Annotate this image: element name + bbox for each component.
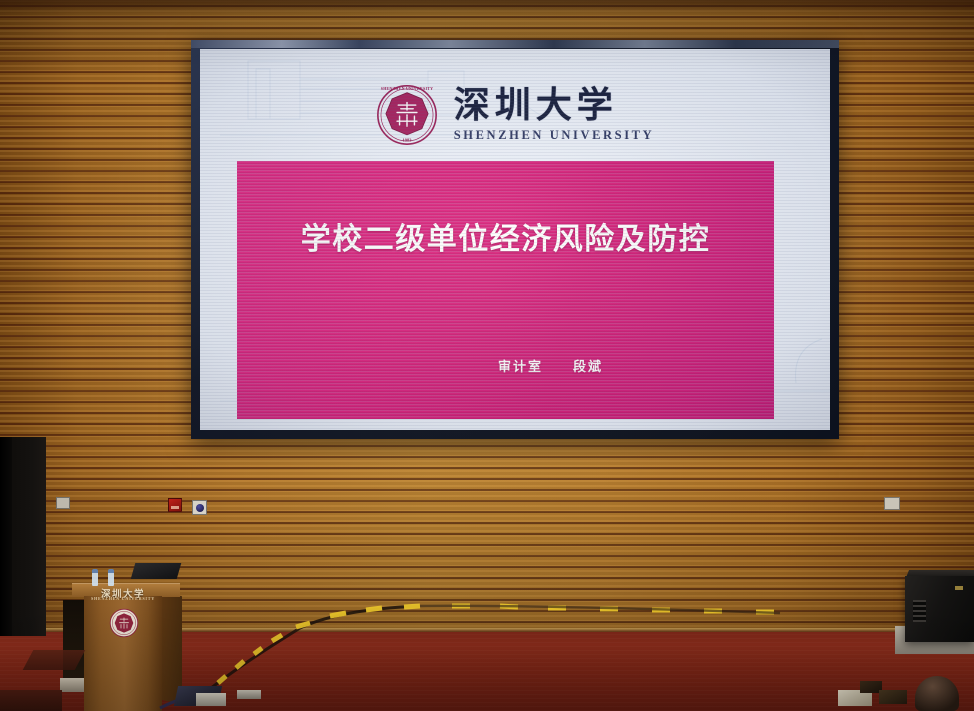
floor-mat-edge (0, 690, 62, 711)
university-logo-lockup: 1983 SHENZHEN UNIVERSITY 深圳大学 SHENZHEN U… (200, 71, 830, 159)
slide-presenter-credit: 审计室 段斌 (237, 356, 774, 375)
screen-bezel-highlight (191, 40, 839, 48)
water-bottle[interactable] (92, 569, 98, 586)
svg-text:1983: 1983 (402, 138, 412, 143)
speaker-brand-badge (955, 586, 963, 590)
led-display-screen[interactable]: 1983 SHENZHEN UNIVERSITY 深圳大学 SHENZHEN U… (191, 40, 839, 439)
floor-box-right (879, 690, 907, 704)
wall-outlet-plate-left-icon[interactable] (56, 497, 70, 509)
slide-title: 学校二级单位经济风险及防控 (237, 214, 774, 258)
floor-mat (23, 650, 86, 670)
floor-cable-plate (237, 690, 261, 699)
university-name-en: SHENZHEN UNIVERSITY (454, 128, 654, 143)
shenzhen-university-crest-icon: 1983 SHENZHEN UNIVERSITY (376, 84, 438, 146)
lecture-hall-photo: 1983 SHENZHEN UNIVERSITY 深圳大学 SHENZHEN U… (0, 0, 974, 711)
taped-cable-run (0, 600, 974, 711)
svg-text:SHENZHEN UNIVERSITY: SHENZHEN UNIVERSITY (381, 86, 434, 91)
ceiling-shadow-band (0, 0, 974, 14)
water-bottle[interactable] (108, 569, 114, 586)
university-name-cn: 深圳大学 (454, 87, 618, 125)
slide-surface: 1983 SHENZHEN UNIVERSITY 深圳大学 SHENZHEN U… (200, 49, 830, 430)
slide-title-band: 学校二级单位经济风险及防控 审计室 段斌 (237, 161, 774, 419)
floor-power-strip (196, 693, 226, 706)
fire-alarm-box-icon[interactable] (168, 498, 182, 512)
wall-outlet-plate-icon[interactable] (884, 497, 900, 510)
floor-jack-panel-icon[interactable] (192, 500, 207, 515)
podium-laptop[interactable] (131, 563, 182, 579)
